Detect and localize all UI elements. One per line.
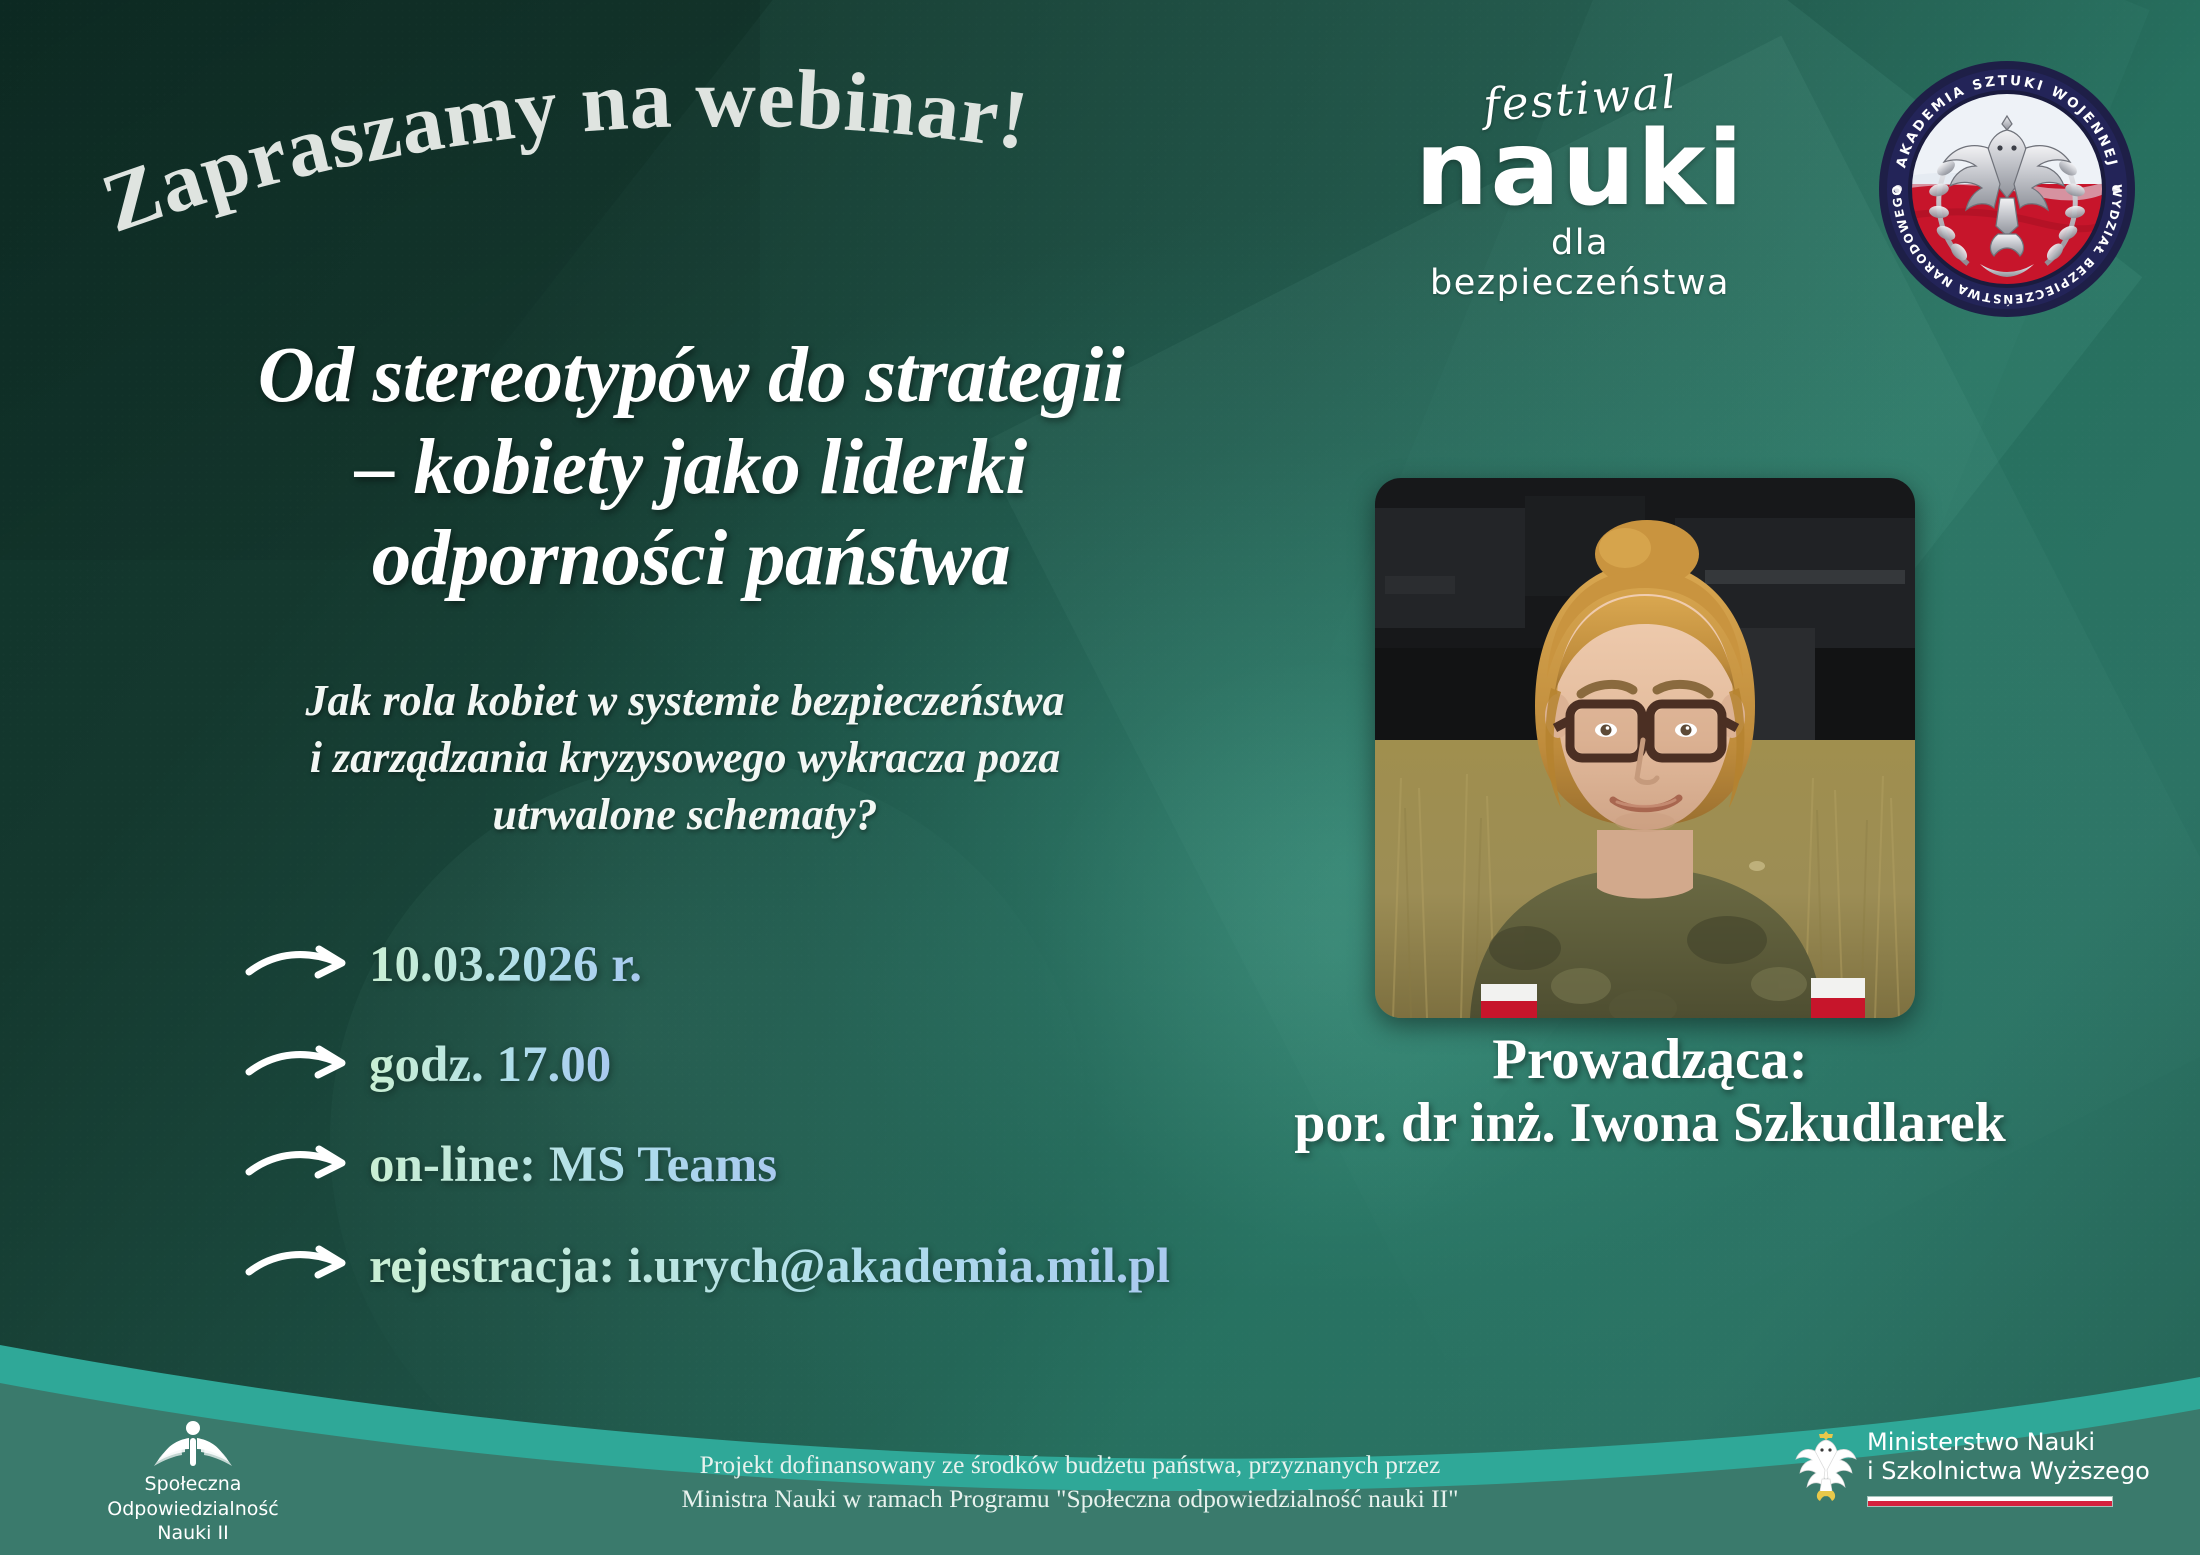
son-line-2: Odpowiedzialność xyxy=(68,1497,318,1522)
headline-text: Zapraszamy na webinar! xyxy=(91,52,1035,251)
detail-date: 10.03.2026 r. xyxy=(369,936,642,994)
subtitle-line-1: Jak rola kobiet w systemie bezpieczeństw… xyxy=(120,672,1250,729)
ministry-line-1: Ministerstwo Nauki xyxy=(1867,1428,2150,1457)
subtitle-line-2: i zarządzania kryzysowego wykracza poza xyxy=(120,729,1250,786)
academy-emblem: AKADEMIA SZTUKI WOJENNEJ WYDZIAŁ BEZPIEC… xyxy=(1876,58,2138,320)
presenter-name: por. dr inż. Iwona Szkudlarek xyxy=(1130,1092,2170,1155)
funding-note: Projekt dofinansowany ze środków budżetu… xyxy=(560,1448,1580,1516)
page-title: Od stereotypów do strategii – kobiety ja… xyxy=(96,330,1286,605)
polish-flag-bar xyxy=(1867,1496,2113,1507)
arrow-right-icon xyxy=(245,1242,353,1288)
son-line-3: Nauki II xyxy=(68,1521,318,1546)
funding-note-line-2: Ministra Nauki w ramach Programu "Społec… xyxy=(560,1482,1580,1516)
arrow-right-icon xyxy=(245,1142,353,1188)
arrow-right-icon xyxy=(245,1042,353,1088)
son-line-1: Społeczna xyxy=(68,1472,318,1497)
son-program-label: Społeczna Odpowiedzialność Nauki II xyxy=(68,1472,318,1546)
detail-platform: on-line: MS Teams xyxy=(369,1136,777,1194)
polish-eagle-icon xyxy=(1795,1425,1857,1503)
ministry-logo: Ministerstwo Nauki i Szkolnictwa Wyższeg… xyxy=(1795,1425,2140,1507)
detail-row-registration[interactable]: rejestracja: i.urych@akademia.mil.pl xyxy=(245,1215,1365,1315)
detail-time: godz. 17.00 xyxy=(369,1036,611,1094)
son-program-logo: Społeczna Odpowiedzialność Nauki II xyxy=(68,1418,318,1546)
open-book-person-icon xyxy=(68,1418,318,1466)
ministry-line-2: i Szkolnictwa Wyższego xyxy=(1867,1457,2150,1486)
presenter-credit: Prowadząca: por. dr inż. Iwona Szkudlare… xyxy=(1130,1028,2170,1156)
title-line-3: odporności państwa xyxy=(96,513,1286,605)
webinar-poster: Zapraszamy na webinar! Od stereotypów do… xyxy=(0,0,2200,1555)
festiwal-nauki-logo: festiwal nauki dla bezpieczeństwa xyxy=(1395,72,1765,303)
detail-registration-email[interactable]: rejestracja: i.urych@akademia.mil.pl xyxy=(369,1236,1170,1294)
detail-row-date: 10.03.2026 r. xyxy=(245,915,1365,1015)
title-line-2: – kobiety jako liderki xyxy=(96,422,1286,514)
festiwal-tagline: dla bezpieczeństwa xyxy=(1395,223,1765,303)
funding-note-line-1: Projekt dofinansowany ze środków budżetu… xyxy=(560,1448,1580,1482)
headline-banner: Zapraszamy na webinar! xyxy=(95,48,1275,263)
subtitle-line-3: utrwalone schematy? xyxy=(120,786,1250,843)
presenter-photo xyxy=(1375,478,1915,1018)
arrow-right-icon xyxy=(245,942,353,988)
title-line-1: Od stereotypów do strategii xyxy=(96,330,1286,422)
subtitle-question: Jak rola kobiet w systemie bezpieczeństw… xyxy=(120,672,1250,844)
presenter-label: Prowadząca: xyxy=(1130,1028,2170,1092)
ministry-text-block: Ministerstwo Nauki i Szkolnictwa Wyższeg… xyxy=(1867,1425,2150,1507)
nauki-wordmark: nauki xyxy=(1395,121,1765,219)
